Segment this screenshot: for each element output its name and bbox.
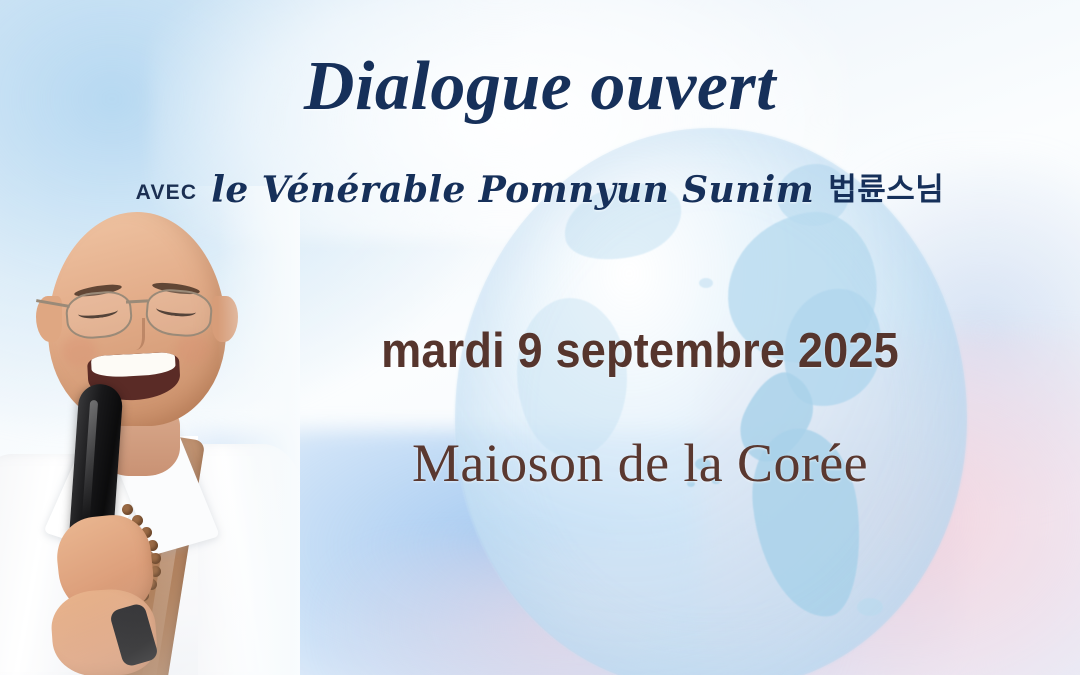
subtitle-prefix: AVEC (136, 181, 198, 205)
event-venue: Maioson de la Corée (270, 432, 1010, 494)
speaker-name-korean: 법륜스님 (828, 164, 944, 209)
teeth (91, 352, 176, 378)
event-date: mardi 9 septembre 2025 (300, 323, 981, 379)
speaker-name-french: le Vénérable Pomnyun Sunim (211, 169, 814, 211)
event-poster: Dialogue ouvert AVEC le Vénérable Pomnyu… (0, 0, 1080, 675)
subtitle-container: AVEC le Vénérable Pomnyun Sunim 법륜스님 (0, 166, 1080, 211)
page-title: Dialogue ouvert (0, 52, 1080, 122)
ear-right (212, 296, 238, 342)
title-container: Dialogue ouvert (0, 52, 1080, 122)
speaker-portrait (0, 186, 300, 675)
cheek-right (176, 334, 210, 364)
